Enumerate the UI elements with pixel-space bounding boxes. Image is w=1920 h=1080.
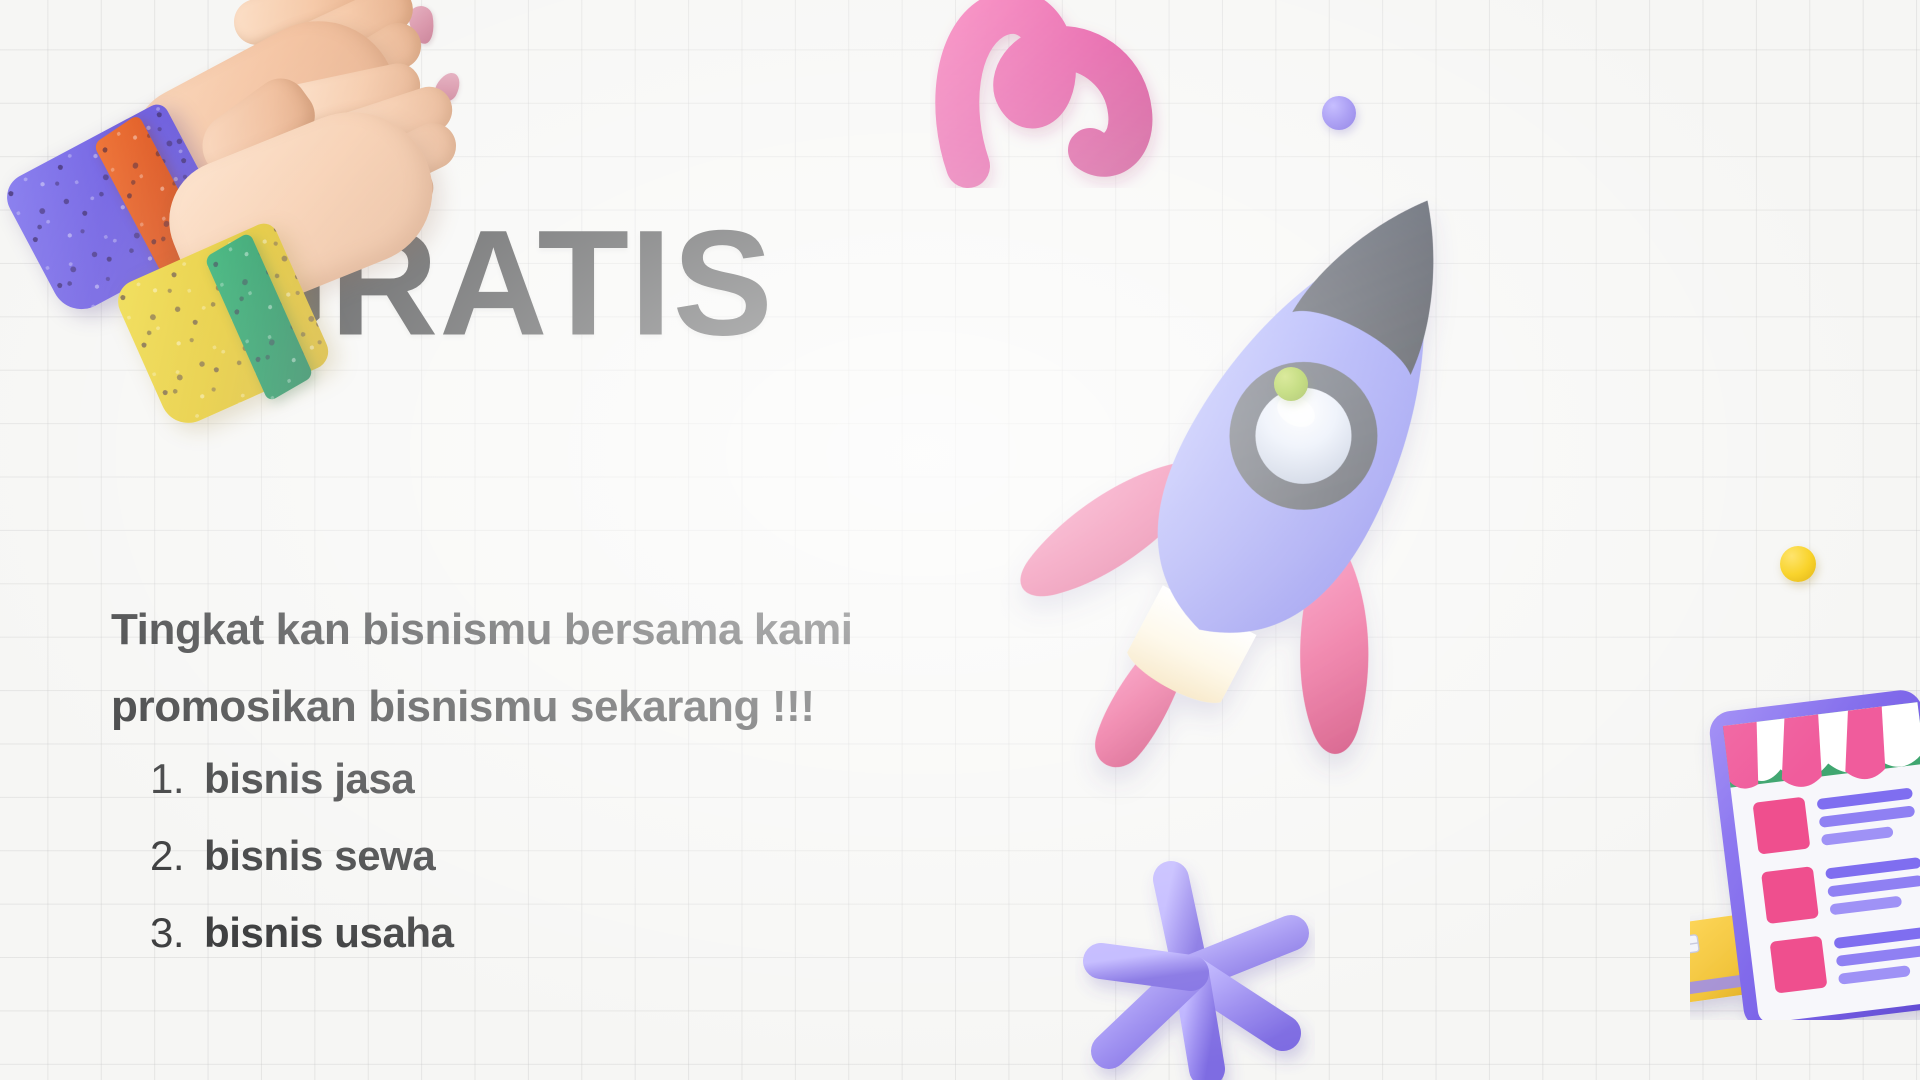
promo-list: 1. bisnis jasa 2. bisnis sewa 3. bisnis … xyxy=(150,755,454,986)
asterisk-arm xyxy=(1101,961,1191,973)
purple-asterisk-icon xyxy=(1075,855,1315,1080)
list-item-number: 1. xyxy=(150,755,204,803)
list-item-label: bisnis usaha xyxy=(204,909,454,957)
yellow-dot-icon xyxy=(1780,546,1816,582)
list-item-label: bisnis sewa xyxy=(204,832,435,880)
list-item: 2. bisnis sewa xyxy=(150,832,454,909)
list-item-label: bisnis jasa xyxy=(204,755,414,803)
product-thumb xyxy=(1770,936,1828,994)
list-item: 3. bisnis usaha xyxy=(150,909,454,986)
subtitle-line-2: promosikan bisnismu sekarang !!! xyxy=(111,682,815,732)
list-item-number: 2. xyxy=(150,832,204,880)
rocket-icon xyxy=(1000,130,1560,830)
purple-dot-icon xyxy=(1322,96,1356,130)
clapping-hands-icon xyxy=(5,0,475,440)
product-thumb xyxy=(1761,866,1819,924)
list-item-number: 3. xyxy=(150,909,204,957)
product-thumb xyxy=(1752,797,1810,855)
subtitle-line-1: Tingkat kan bisnismu bersama kami xyxy=(111,605,853,655)
list-item: 1. bisnis jasa xyxy=(150,755,454,832)
online-store-tablet-icon xyxy=(1690,690,1920,1020)
promo-banner: GRATIS Tingkat kan bisnismu bersama kami… xyxy=(0,0,1920,1080)
green-dot-icon xyxy=(1274,367,1308,401)
